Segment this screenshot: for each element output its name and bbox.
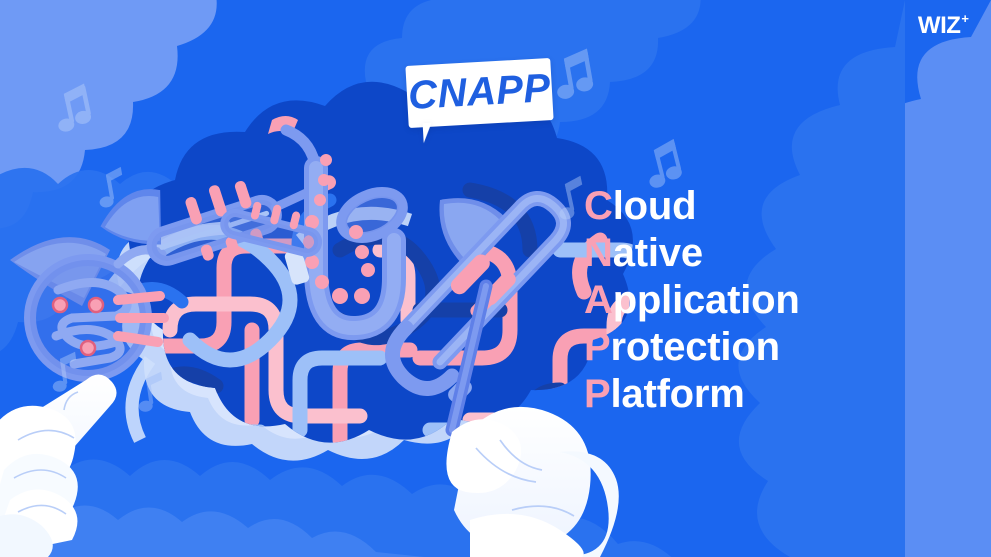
acronym-rest: rotection (610, 325, 779, 369)
wiz-logo-text: WIZ (918, 14, 960, 38)
acronym-line: Platform (584, 374, 800, 414)
acronym-line: Application (584, 280, 800, 320)
acronym-initial: P (584, 372, 610, 416)
wiz-logo[interactable]: WIZ + (918, 14, 969, 38)
slide-canvas: CNAPP WIZ + Cloud Native Application Pro… (0, 0, 991, 557)
acronym-line: Protection (584, 327, 800, 367)
acronym-expansion: Cloud Native Application Protection Plat… (584, 186, 800, 421)
acronym-line: Native (584, 233, 800, 273)
callout-tail (423, 122, 444, 143)
callout-label: CNAPP (405, 58, 553, 128)
acronym-initial: A (584, 278, 613, 322)
sparkle-icon: + (961, 12, 969, 25)
acronym-initial: N (584, 231, 613, 275)
cnapp-callout-bubble: CNAPP (405, 58, 553, 128)
acronym-initial: C (584, 184, 613, 228)
acronym-line: Cloud (584, 186, 800, 226)
acronym-rest: loud (613, 184, 697, 228)
acronym-initial: P (584, 325, 610, 369)
acronym-rest: latform (610, 372, 744, 416)
acronym-rest: ative (613, 231, 703, 275)
acronym-rest: pplication (613, 278, 800, 322)
